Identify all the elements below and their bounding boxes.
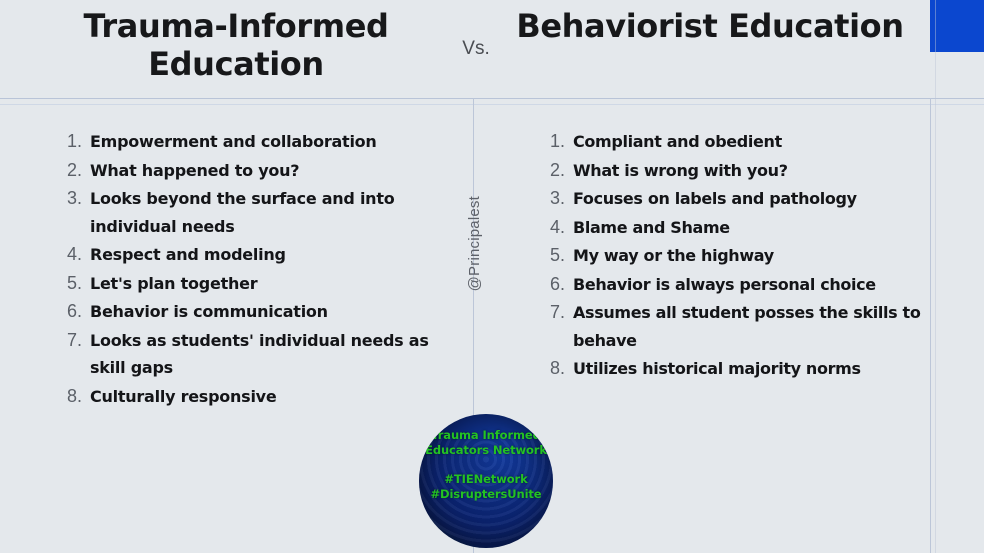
list-item-text: My way or the highway (565, 242, 935, 270)
slide-canvas: Trauma-Informed Education Vs. Behavioris… (0, 0, 984, 553)
list-item-text: What is wrong with you? (565, 157, 935, 185)
right-column-title: Behaviorist Education (500, 8, 920, 46)
list-item-number: 2. (545, 157, 565, 185)
list-item-number: 5. (545, 242, 565, 270)
logo-line-4: #DisruptersUnite (430, 487, 541, 502)
trauma-informed-list: 1. Empowerment and collaboration 2. What… (62, 128, 462, 411)
list-item: 4. Blame and Shame (545, 214, 935, 242)
list-item: 5. Let's plan together (62, 270, 462, 298)
list-item-number: 6. (62, 298, 82, 326)
list-item-text: Let's plan together (82, 270, 462, 298)
list-item-number: 5. (62, 270, 82, 298)
list-item-number: 4. (62, 241, 82, 269)
right-inner-divider (935, 0, 936, 553)
list-item-number: 3. (62, 185, 82, 213)
list-item: 3. Looks beyond the surface and into ind… (62, 185, 462, 240)
list-item-number: 2. (62, 157, 82, 185)
list-item-text: Focuses on labels and pathology (565, 185, 935, 213)
versus-label: Vs. (448, 38, 504, 60)
list-item: 3. Focuses on labels and pathology (545, 185, 935, 213)
list-item-number: 8. (62, 383, 82, 411)
list-item: 8. Culturally responsive (62, 383, 462, 411)
list-item-text: Compliant and obedient (565, 128, 935, 156)
author-watermark: @Principalest (466, 196, 483, 291)
list-item-number: 7. (545, 299, 565, 327)
header-divider (0, 98, 984, 99)
list-item-text: Behavior is communication (82, 298, 462, 326)
list-item-text: Respect and modeling (82, 241, 462, 269)
tie-network-logo: Trauma Informed Educators Network #TIENe… (419, 414, 553, 548)
logo-line-3: #TIENetwork (444, 472, 527, 487)
list-item: 4. Respect and modeling (62, 241, 462, 269)
list-item-number: 4. (545, 214, 565, 242)
list-item-text: Culturally responsive (82, 383, 462, 411)
logo-line-1: Trauma Informed (431, 428, 541, 443)
list-item-number: 8. (545, 355, 565, 383)
list-item-number: 3. (545, 185, 565, 213)
list-item-text: What happened to you? (82, 157, 462, 185)
list-item: 2. What happened to you? (62, 157, 462, 185)
list-item: 7. Looks as students' individual needs a… (62, 327, 462, 382)
list-item-text: Looks as students' individual needs as s… (82, 327, 462, 382)
list-item: 6. Behavior is always personal choice (545, 271, 935, 299)
list-item-text: Empowerment and collaboration (82, 128, 462, 156)
logo-line-2: Educators Network (425, 443, 547, 458)
header-divider-shadow (0, 104, 984, 105)
list-item-text: Blame and Shame (565, 214, 935, 242)
list-item-text: Assumes all student posses the skills to… (565, 299, 935, 354)
list-item-number: 6. (545, 271, 565, 299)
list-item: 1. Empowerment and collaboration (62, 128, 462, 156)
list-item-number: 1. (62, 128, 82, 156)
list-item-number: 1. (545, 128, 565, 156)
list-item-text: Behavior is always personal choice (565, 271, 935, 299)
list-item: 7. Assumes all student posses the skills… (545, 299, 935, 354)
list-item-text: Looks beyond the surface and into indivi… (82, 185, 462, 240)
list-item: 8. Utilizes historical majority norms (545, 355, 935, 383)
list-item-number: 7. (62, 327, 82, 355)
list-item: 6. Behavior is communication (62, 298, 462, 326)
list-item: 1. Compliant and obedient (545, 128, 935, 156)
list-item: 2. What is wrong with you? (545, 157, 935, 185)
accent-block (930, 0, 984, 52)
list-item-text: Utilizes historical majority norms (565, 355, 935, 383)
list-item: 5. My way or the highway (545, 242, 935, 270)
behaviorist-list: 1. Compliant and obedient 2. What is wro… (545, 128, 935, 384)
left-column-title: Trauma-Informed Education (10, 8, 462, 84)
